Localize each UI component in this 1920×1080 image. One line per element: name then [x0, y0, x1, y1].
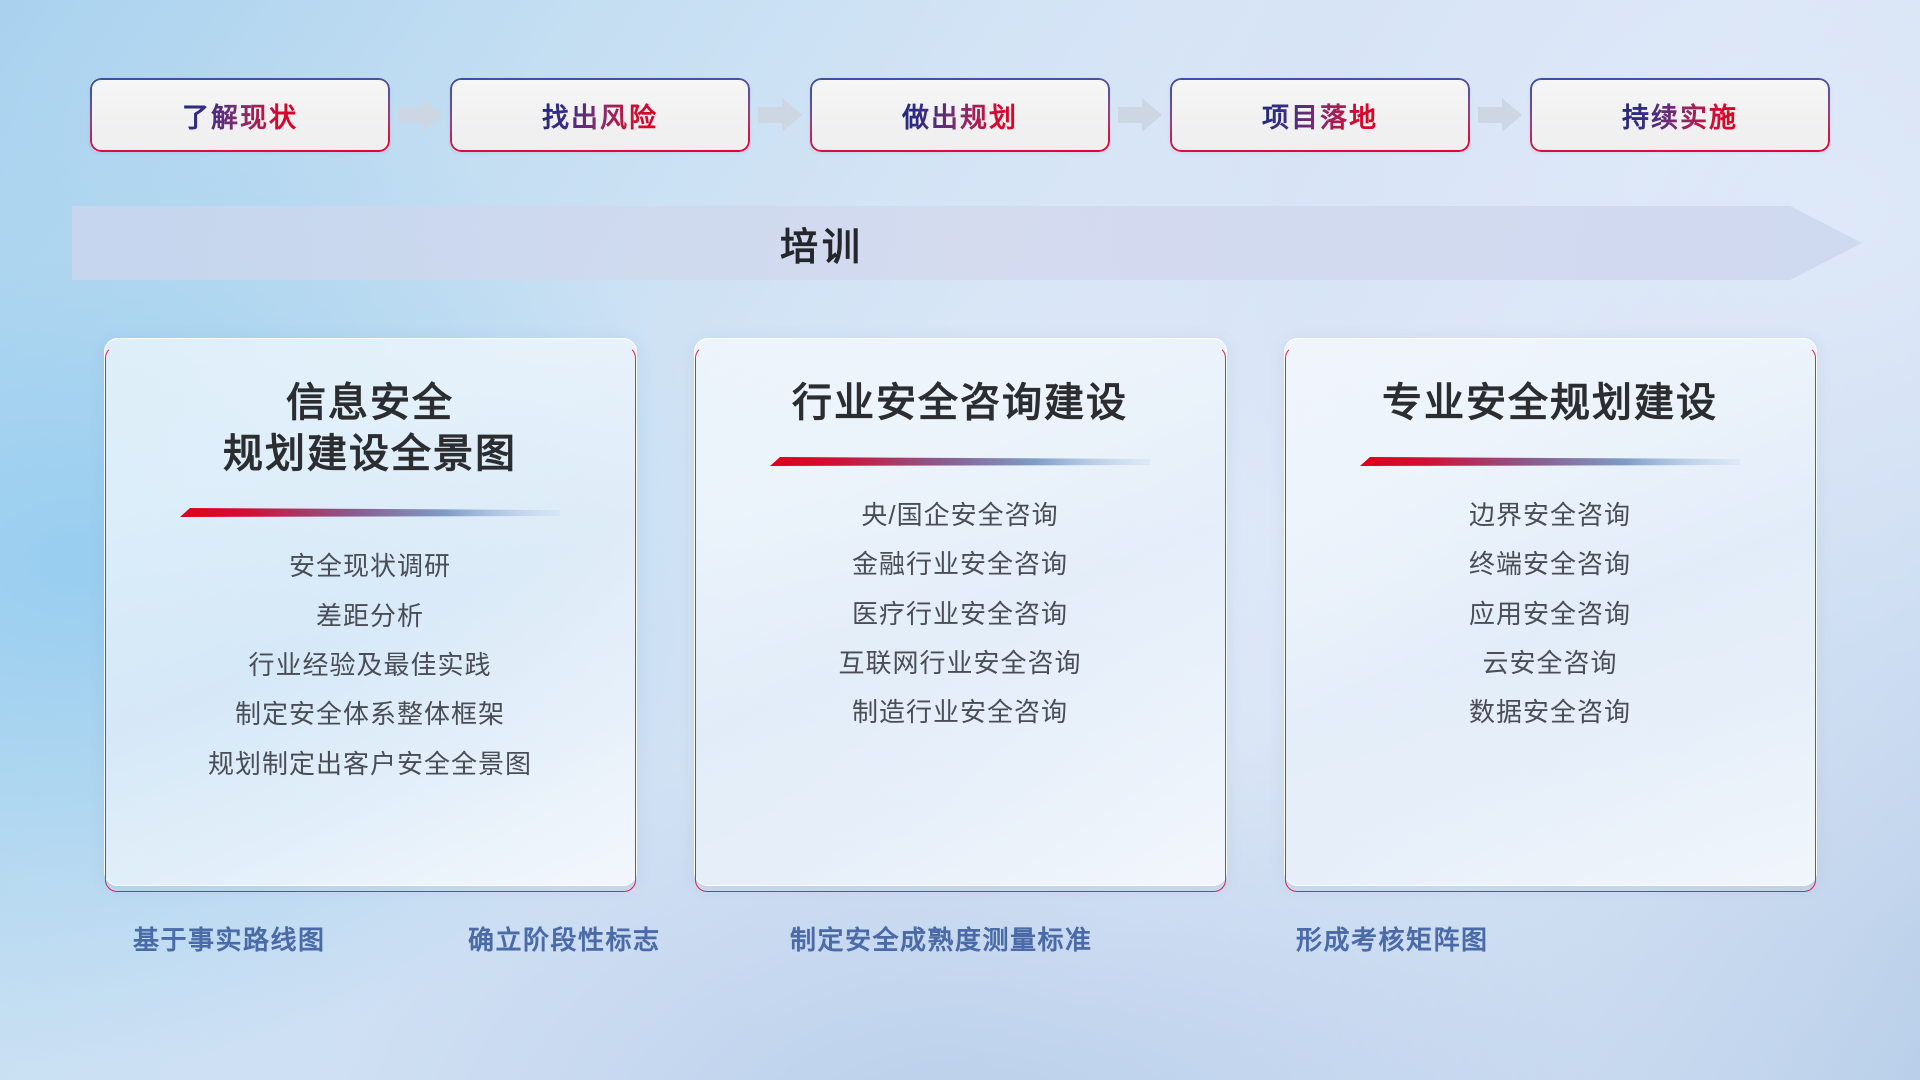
process-step-row: 了解现状 找出风险 做出规划 项目落地 [0, 78, 1920, 152]
step-box-3[interactable]: 做出规划 [810, 78, 1110, 152]
arrow-right-icon [1476, 96, 1524, 134]
step-label-5: 持续实施 [1622, 96, 1738, 135]
step-box-2[interactable]: 找出风险 [450, 78, 750, 152]
list-item: 金融行业安全咨询 [852, 544, 1068, 584]
list-item: 差距分析 [316, 596, 424, 636]
card-information-security-panorama[interactable]: 信息安全 规划建设全景图 安全现状调研 [104, 338, 637, 886]
step-label-4: 项目落地 [1262, 96, 1378, 135]
card-title: 行业安全咨询建设 [792, 378, 1128, 429]
step-label-2: 找出风险 [542, 96, 658, 135]
list-item: 云安全咨询 [1482, 643, 1617, 683]
arrow-right-icon [1116, 96, 1164, 134]
card-title: 专业安全规划建设 [1382, 378, 1718, 429]
banner-title: 培训 [72, 206, 1572, 280]
list-item: 数据安全咨询 [1469, 692, 1631, 732]
card-group: 信息安全 规划建设全景图 安全现状调研 [0, 338, 1920, 890]
card-industry-security-consulting[interactable]: 行业安全咨询建设 央/国企安全咨询 [694, 338, 1227, 886]
card-divider [770, 455, 1150, 467]
step-box-5[interactable]: 持续实施 [1530, 78, 1830, 152]
list-item: 医疗行业安全咨询 [852, 594, 1068, 634]
arrow-right-icon [756, 96, 804, 134]
card-professional-security-planning[interactable]: 专业安全规划建设 边界安全咨询 [1284, 338, 1817, 886]
footer-label-4: 形成考核矩阵图 [1296, 920, 1489, 957]
card-list: 央/国企安全咨询 金融行业安全咨询 医疗行业安全咨询 互联网行业安全咨询 制造行… [838, 495, 1081, 732]
infographic-stage: 了解现状 找出风险 做出规划 项目落地 [0, 0, 1920, 1080]
card-divider [1360, 455, 1740, 467]
list-item: 边界安全咨询 [1469, 495, 1631, 535]
card-title: 信息安全 规划建设全景图 [223, 378, 517, 480]
card-list: 安全现状调研 差距分析 行业经验及最佳实践 制定安全体系整体框架 规划制定出客户… [208, 546, 532, 783]
list-item: 制造行业安全咨询 [852, 692, 1068, 732]
list-item: 互联网行业安全咨询 [838, 643, 1081, 683]
step-box-1[interactable]: 了解现状 [90, 78, 390, 152]
list-item: 规划制定出客户安全全景图 [208, 744, 532, 784]
list-item: 行业经验及最佳实践 [248, 645, 491, 685]
list-item: 制定安全体系整体框架 [235, 694, 505, 734]
footer-label-1: 基于事实路线图 [133, 920, 326, 957]
card-list: 边界安全咨询 终端安全咨询 应用安全咨询 云安全咨询 数据安全咨询 [1469, 495, 1631, 732]
step-label-1: 了解现状 [182, 96, 298, 135]
list-item: 央/国企安全咨询 [861, 495, 1058, 535]
list-item: 终端安全咨询 [1469, 544, 1631, 584]
list-item: 安全现状调研 [289, 546, 451, 586]
arrow-right-icon [396, 96, 444, 134]
footer-label-2: 确立阶段性标志 [468, 920, 661, 957]
step-box-4[interactable]: 项目落地 [1170, 78, 1470, 152]
step-label-3: 做出规划 [902, 96, 1018, 135]
training-banner: 培训 [72, 206, 1862, 280]
footer-label-row: 基于事实路线图 确立阶段性标志 制定安全成熟度测量标准 形成考核矩阵图 [0, 920, 1920, 966]
list-item: 应用安全咨询 [1469, 594, 1631, 634]
footer-label-3: 制定安全成熟度测量标准 [790, 920, 1093, 957]
card-divider [180, 506, 560, 518]
